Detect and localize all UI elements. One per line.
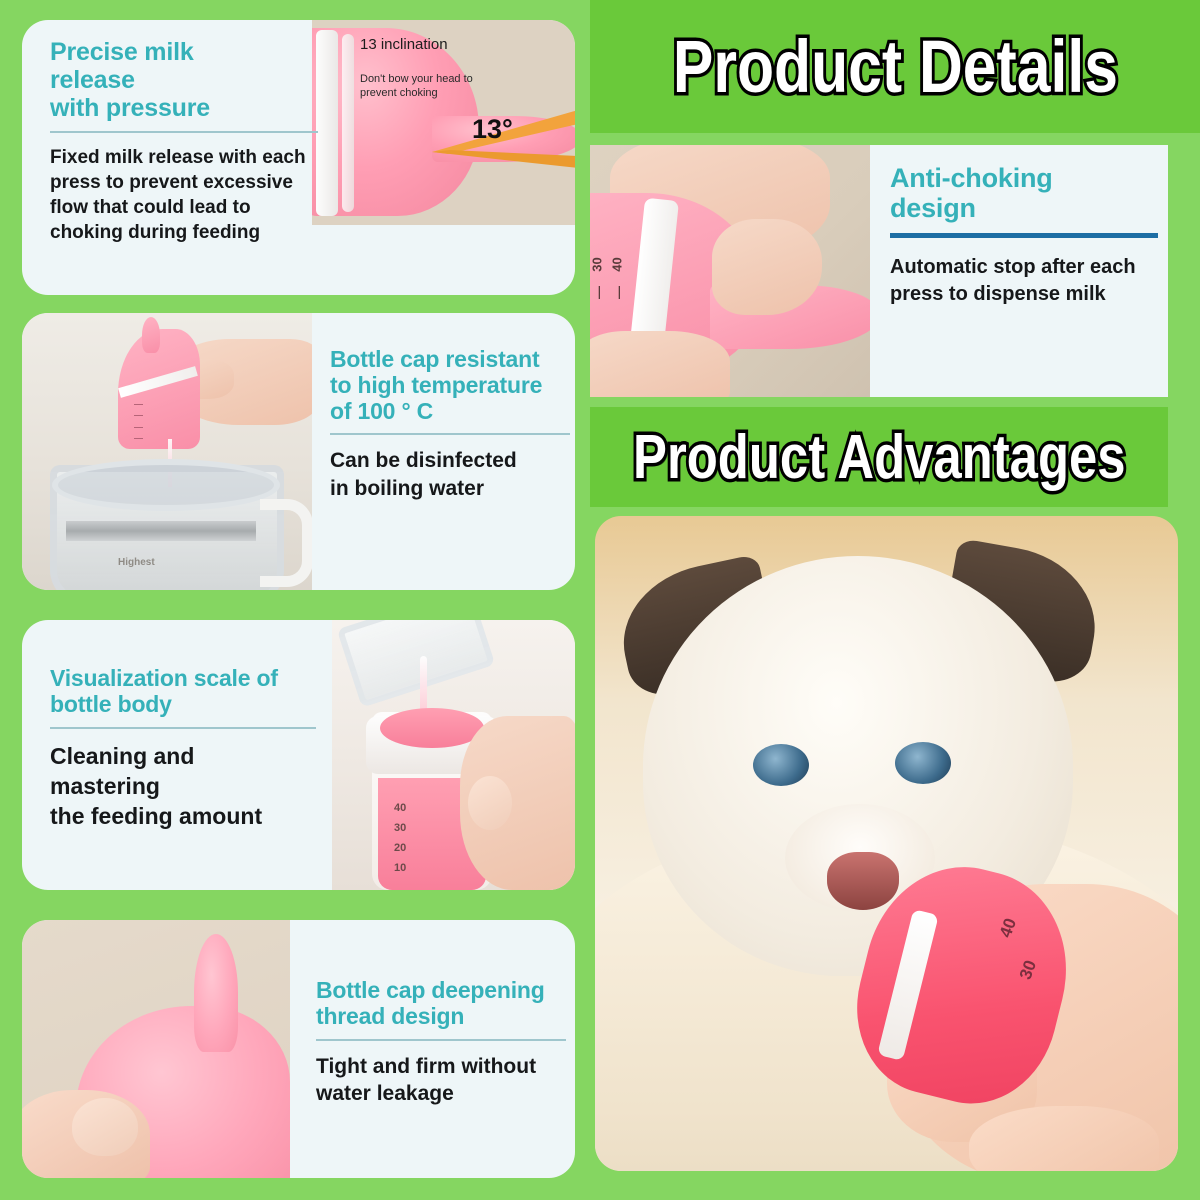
kettle-steel-band [66, 521, 256, 541]
card-heading: Bottle cap deepening thread design [316, 978, 566, 1030]
pouring-water-into-bottle-photo: 40 30 20 10 [332, 620, 575, 890]
banner-product-advantages: Product Advantages [590, 407, 1168, 507]
bottle-over-boiling-kettle-photo: ———— Highest [22, 313, 312, 590]
card-heading: Bottle cap resistant to high temperature… [330, 347, 570, 424]
card-body: Can be disinfected in boiling water [330, 447, 570, 502]
bottle-scale-mark-40: 40 [394, 802, 406, 814]
kitten-being-fed-photo: 40 30 [595, 516, 1178, 1171]
kitten-mouth [827, 852, 899, 910]
kettle-label: Highest [118, 557, 155, 568]
card-body: Cleaning and mastering the feeding amoun… [50, 741, 316, 832]
nipple-collar-ring [316, 30, 338, 216]
diagram-title: 13 inclination [360, 36, 448, 53]
bottle-scale-tick-1: — [591, 286, 606, 299]
kettle-handle [260, 499, 312, 587]
kitten-eye-left [753, 744, 809, 786]
heading-divider [890, 233, 1158, 238]
glass-measuring-jug [337, 620, 495, 708]
card-text-pane: Bottle cap deepening thread design Tight… [316, 978, 566, 1108]
human-finger [969, 1106, 1159, 1171]
card-text-pane: Visualization scale of bottle body Clean… [50, 666, 316, 832]
diagram-subtitle: Don't bow your head to prevent choking [360, 72, 473, 101]
nipple-collar-ring-2 [342, 34, 354, 212]
feature-card-anti-choking: 30 40 — — Anti-choking design Automatic … [590, 145, 1168, 397]
bottle-scale-mark-10: 10 [394, 862, 406, 874]
banner-product-details-label: Product Details [672, 24, 1117, 109]
card-heading: Anti-choking design [890, 163, 1158, 223]
card-body: Tight and firm without water leakage [316, 1053, 566, 1108]
card-text-pane: Anti-choking design Automatic stop after… [890, 163, 1158, 307]
heading-divider [50, 131, 318, 133]
banner-product-details: Product Details [590, 0, 1200, 133]
nipple-inclination-diagram: 13 inclination Don't bow your head to pr… [312, 20, 575, 225]
feature-card-heat-resistant-cap: ———— Highest Bottle cap resistant to hig… [22, 313, 575, 590]
bottle-inner-liquid [380, 708, 484, 748]
fingers [712, 219, 822, 315]
diagram-angle-label: 13° [472, 114, 513, 145]
nipple-spout [194, 934, 238, 1052]
infographic-page: 13 inclination Don't bow your head to pr… [0, 0, 1200, 1200]
thumb-nail [72, 1098, 138, 1156]
feature-card-deepening-thread: Bottle cap deepening thread design Tight… [22, 920, 575, 1178]
lower-fingers [590, 331, 730, 397]
card-body: Fixed milk release with each press to pr… [50, 145, 318, 245]
bottle-scale-tick-2: — [611, 286, 626, 299]
feeder-bottle-tip [142, 317, 160, 353]
bottle-scale-mark: ———— [134, 399, 143, 444]
card-text-pane: Precise milk release with pressure Fixed… [50, 38, 318, 245]
feature-card-precise-milk-release: 13 inclination Don't bow your head to pr… [22, 20, 575, 295]
card-body: Automatic stop after each press to dispe… [890, 254, 1158, 307]
heading-divider [316, 1039, 566, 1041]
bottle-scale-mark-30: 30 [590, 257, 605, 271]
banner-product-advantages-label: Product Advantages [633, 422, 1125, 493]
bottle-scale-mark-40: 40 [610, 257, 625, 271]
card-text-pane: Bottle cap resistant to high temperature… [330, 347, 570, 503]
heading-divider [50, 727, 316, 729]
card-heading: Visualization scale of bottle body [50, 666, 316, 718]
bottle-scale-mark-20: 20 [394, 842, 406, 854]
heading-divider [330, 433, 570, 435]
bottle-scale-mark-30: 30 [394, 822, 406, 834]
thumb-nail [468, 776, 512, 830]
kitten-eye-right [895, 742, 951, 784]
card-heading: Precise milk release with pressure [50, 38, 318, 122]
feature-card-visualization-scale: 40 30 20 10 Visualization scale of bottl… [22, 620, 575, 890]
hand-holding-bottle-photo: 30 40 — — [590, 145, 870, 397]
kettle-rim [52, 459, 280, 511]
thumb-pressing-nipple-photo [22, 920, 290, 1178]
